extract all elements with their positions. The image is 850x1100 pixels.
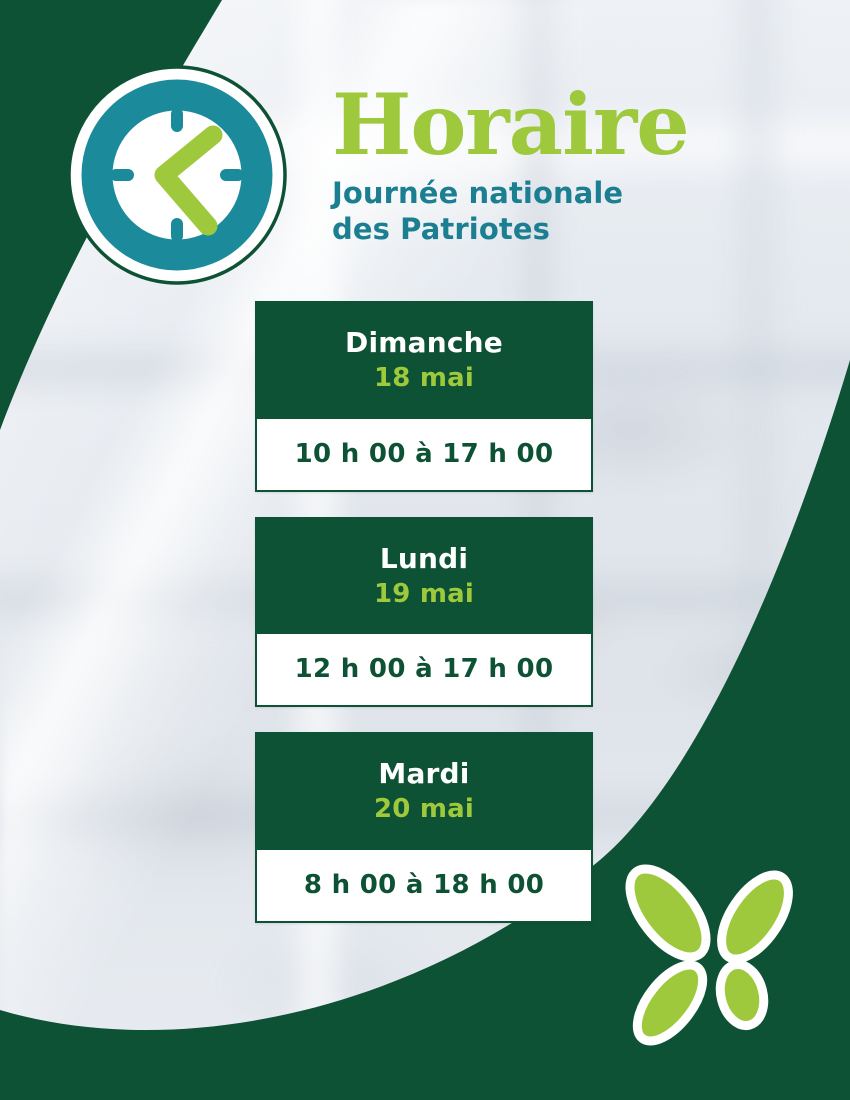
schedule-card-header: Lundi 19 mai [255, 517, 593, 635]
schedule-hours: 10 h 00 à 17 h 00 [255, 419, 593, 492]
wing-lower-right [714, 960, 770, 1030]
schedule-date: 20 mai [265, 793, 583, 826]
schedule-date: 18 mai [265, 362, 583, 395]
schedule-hours: 12 h 00 à 17 h 00 [255, 634, 593, 707]
schedule-day: Dimanche [265, 325, 583, 360]
schedule-card: Dimanche 18 mai 10 h 00 à 17 h 00 [255, 301, 593, 492]
wing-lower-left [625, 954, 715, 1052]
subtitle-line-2: des Patriotes [332, 212, 762, 247]
schedule-date: 19 mai [265, 578, 583, 611]
schedule-card-header: Mardi 20 mai [255, 732, 593, 850]
wing-upper-right [708, 864, 801, 970]
subtitle-line-1: Journée nationale [332, 176, 762, 211]
wing-upper-left [615, 856, 720, 970]
schedule-day: Lundi [265, 541, 583, 576]
horaire-poster: Horaire Journée nationale des Patriotes … [0, 0, 850, 1100]
clock-icon [66, 64, 288, 286]
page-title: Horaire [332, 84, 762, 166]
schedule-card: Mardi 20 mai 8 h 00 à 18 h 00 [255, 732, 593, 923]
schedule-day: Mardi [265, 756, 583, 791]
schedule-card-header: Dimanche 18 mai [255, 301, 593, 419]
schedule-hours: 8 h 00 à 18 h 00 [255, 850, 593, 923]
page-subtitle: Journée nationale des Patriotes [332, 176, 762, 247]
schedule-card: Lundi 19 mai 12 h 00 à 17 h 00 [255, 517, 593, 708]
butterfly-logo-icon [612, 855, 827, 1060]
poster-header: Horaire Journée nationale des Patriotes [332, 84, 762, 247]
schedule-list: Dimanche 18 mai 10 h 00 à 17 h 00 Lundi … [255, 301, 593, 948]
